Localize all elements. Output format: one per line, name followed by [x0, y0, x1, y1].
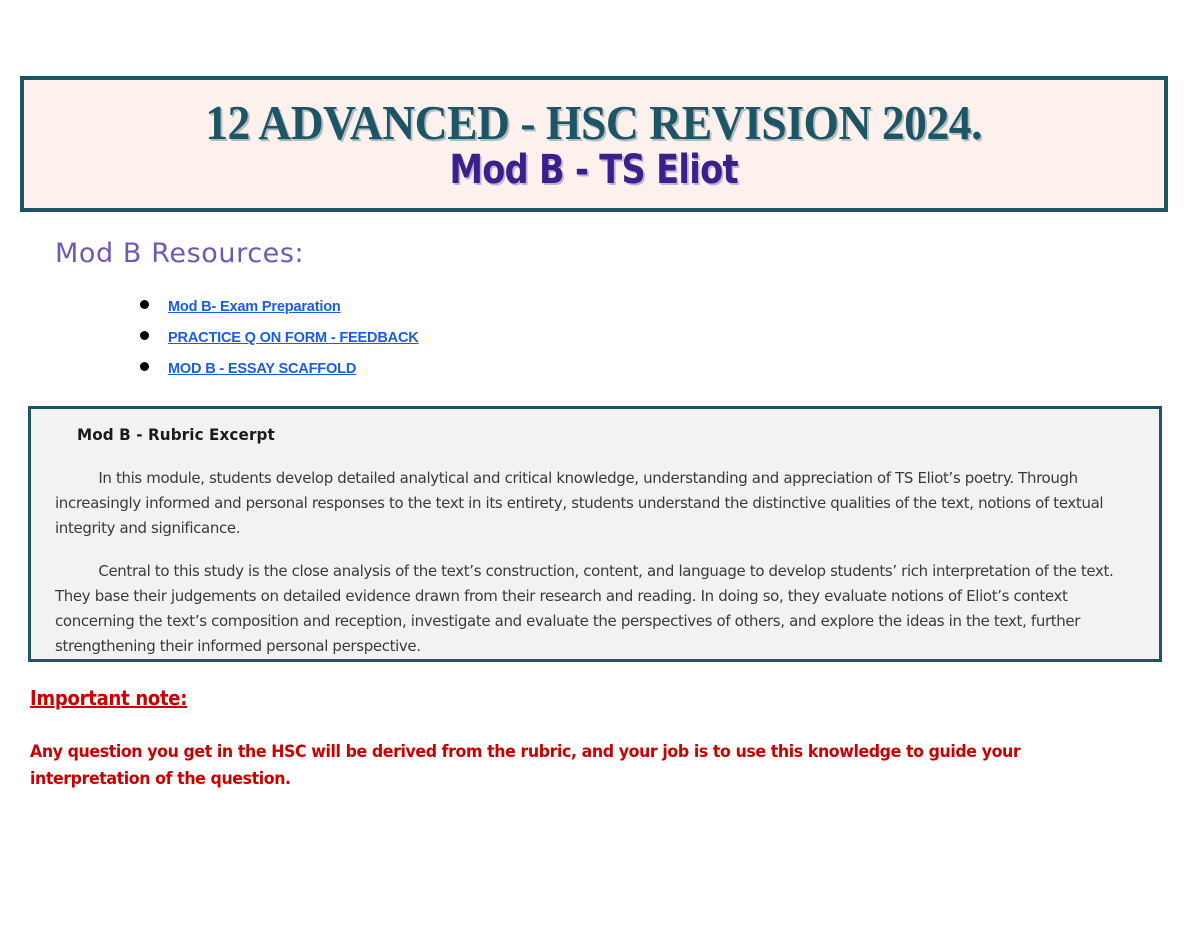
- bullet-icon: [140, 300, 149, 309]
- banner-title-secondary: Mod B - TS Eliot: [450, 149, 738, 191]
- title-banner: 12 ADVANCED - HSC REVISION 2024. Mod B -…: [20, 76, 1168, 212]
- list-item: MOD B - ESSAY SCAFFOLD: [140, 360, 426, 378]
- list-item: Mod B- Exam Preparation: [140, 298, 426, 316]
- resource-link-essay-scaffold[interactable]: MOD B - ESSAY SCAFFOLD: [168, 360, 356, 377]
- bullet-icon: [140, 331, 149, 340]
- resources-heading: Mod B Resources:: [55, 238, 304, 269]
- rubric-heading: Mod B - Rubric Excerpt: [77, 425, 1082, 444]
- rubric-paragraph-1: In this module, students develop detaile…: [55, 466, 1119, 541]
- important-note-heading: Important note:: [30, 686, 187, 710]
- bullet-icon: [140, 362, 149, 371]
- slide-page: 12 ADVANCED - HSC REVISION 2024. Mod B -…: [0, 0, 1200, 927]
- rubric-excerpt-box: Mod B - Rubric Excerpt In this module, s…: [28, 406, 1162, 662]
- important-note-body: Any question you get in the HSC will be …: [30, 738, 1048, 792]
- resources-link-list: Mod B- Exam Preparation PRACTICE Q ON FO…: [140, 298, 426, 391]
- rubric-paragraph-2: Central to this study is the close analy…: [55, 559, 1119, 659]
- resource-link-practice-q-feedback[interactable]: PRACTICE Q ON FORM - FEEDBACK: [168, 329, 419, 346]
- banner-title-primary: 12 ADVANCED - HSC REVISION 2024.: [206, 98, 983, 147]
- resource-link-exam-preparation[interactable]: Mod B- Exam Preparation: [168, 298, 341, 315]
- list-item: PRACTICE Q ON FORM - FEEDBACK: [140, 329, 426, 347]
